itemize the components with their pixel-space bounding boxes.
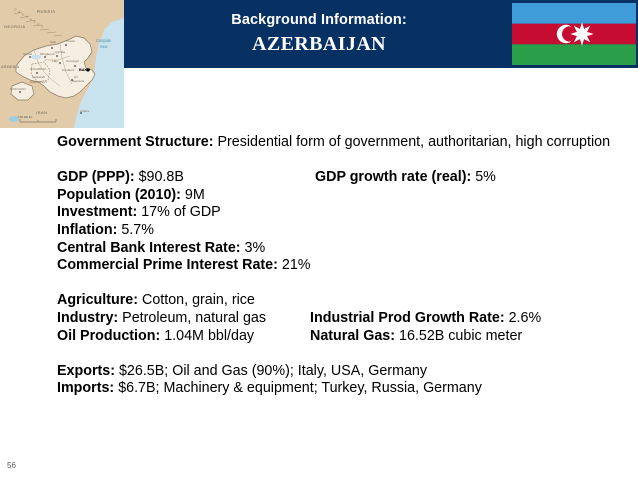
svg-text:Şäki: Şäki <box>50 40 56 44</box>
fact-value: Petroleum, natural gas <box>122 310 266 326</box>
fact-value: 17% of GDP <box>141 204 220 220</box>
fact-row-industry: Industry: Petroleum, natural gas Industr… <box>57 310 632 328</box>
svg-text:BAKU: BAKU <box>79 68 90 72</box>
eight-pointed-star-icon <box>570 22 593 45</box>
fact-row-investment: Investment: 17% of GDP <box>57 204 632 222</box>
fact-row-commercial-prime-interest-rate: Commercial Prime Interest Rate: 21% <box>57 257 632 275</box>
svg-text:Gäncä: Gäncä <box>23 52 32 56</box>
fact-row-industrial-prod-growth-rate: Industrial Prod Growth Rate: 2.6% <box>310 310 541 328</box>
fact-row-exports: Exports: $26.5B; Oil and Gas (90%); Ital… <box>57 363 632 381</box>
fact-row-oil-production: Oil Production: 1.04M bbl/day Natural Ga… <box>57 328 632 346</box>
fact-row-natural-gas: Natural Gas: 16.52B cubic meter <box>310 328 522 346</box>
fact-row-gdp-growth-rate: GDP growth rate (real): 5% <box>315 169 496 187</box>
fact-row-spacer <box>57 152 632 170</box>
fact-label: Population (2010): <box>57 187 181 203</box>
azerbaijan-locator-map: RUSSIA GEORGIA ARMENIA IRAN Caspian Sea … <box>0 0 124 128</box>
fact-label: Natural Gas: <box>310 328 395 344</box>
svg-text:Astara: Astara <box>80 109 89 113</box>
fact-row-government-structure: Government Structure: Presidential form … <box>57 134 632 152</box>
fact-row-agriculture: Agriculture: Cotton, grain, rice <box>57 292 632 310</box>
fact-row-spacer <box>57 345 632 363</box>
fact-value: 21% <box>282 257 311 273</box>
fact-value: Presidential form of government, authori… <box>217 134 610 150</box>
svg-text:Qabala: Qabala <box>55 50 65 54</box>
svg-text:Bayramli: Bayramli <box>72 79 84 83</box>
header-subtitle: Background Information: <box>231 13 407 29</box>
fact-row-imports: Imports: $6.7B; Machinery & equipment; T… <box>57 380 632 398</box>
svg-text:NAXCIVAN: NAXCIVAN <box>10 87 26 91</box>
svg-text:RUSSIA: RUSSIA <box>37 9 56 14</box>
svg-text:Sea: Sea <box>100 44 108 49</box>
svg-text:0 50 100 km: 0 50 100 km <box>18 115 32 119</box>
svg-text:Mingäçevir: Mingäçevir <box>40 52 55 56</box>
fact-label: Exports: <box>57 363 115 379</box>
fact-value: 5.7% <box>121 222 154 238</box>
fact-value: 1.04M bbl/day <box>164 328 254 344</box>
fact-row-central-bank-interest-rate: Central Bank Interest Rate: 3% <box>57 240 632 258</box>
page-title: AZERBAIJAN <box>252 33 386 55</box>
fact-row-population: Population (2010): 9M <box>57 187 632 205</box>
fact-label: Investment: <box>57 204 137 220</box>
fact-value: $6.7B; Machinery & equipment; Turkey, Ru… <box>118 380 482 396</box>
fact-label: Government Structure: <box>57 134 214 150</box>
fact-value: $90.8B <box>139 169 184 185</box>
svg-text:IRAN: IRAN <box>36 110 48 115</box>
fact-label: Oil Production: <box>57 328 160 344</box>
header-title-block: Background Information: AZERBAIJAN <box>124 0 514 68</box>
fact-label: Central Bank Interest Rate: <box>57 240 241 256</box>
fact-label: GDP growth rate (real): <box>315 169 471 185</box>
svg-text:NAGORNO-: NAGORNO- <box>30 67 47 71</box>
svg-text:Xankändi: Xankändi <box>32 75 45 79</box>
svg-text:Kürdämir: Kürdämir <box>62 68 75 72</box>
fact-value: 16.52B cubic meter <box>399 328 522 344</box>
svg-text:Sumqayit: Sumqayit <box>66 59 79 63</box>
fact-value: 3% <box>245 240 266 256</box>
svg-text:KARABAKH: KARABAKH <box>30 80 47 84</box>
azerbaijan-flag <box>512 3 636 65</box>
svg-text:GEORGIA: GEORGIA <box>4 24 25 29</box>
fact-label: Commercial Prime Interest Rate: <box>57 257 278 273</box>
svg-text:ARMENIA: ARMENIA <box>1 65 20 69</box>
svg-text:Caspian: Caspian <box>96 38 112 43</box>
fact-value: 2.6% <box>509 310 542 326</box>
fact-value: 9M <box>185 187 205 203</box>
fact-label: Industry: <box>57 310 118 326</box>
fact-label: GDP (PPP): <box>57 169 135 185</box>
fact-label: Imports: <box>57 380 114 396</box>
page-number: 56 <box>7 461 16 470</box>
fact-label: Industrial Prod Growth Rate: <box>310 310 505 326</box>
fact-label: Inflation: <box>57 222 117 238</box>
fact-value: $26.5B; Oil and Gas (90%); Italy, USA, G… <box>119 363 427 379</box>
fact-label: Agriculture: <box>57 292 138 308</box>
fact-row-inflation: Inflation: 5.7% <box>57 222 632 240</box>
fact-row-spacer <box>57 275 632 293</box>
fact-row-gdp-ppp: GDP (PPP): $90.8B GDP growth rate (real)… <box>57 169 632 187</box>
fact-value: 5% <box>475 169 496 185</box>
fact-value: Cotton, grain, rice <box>142 292 255 308</box>
svg-text:Yevlax: Yevlax <box>66 39 75 43</box>
svg-text:Läki: Läki <box>52 59 58 63</box>
fact-sheet: Government Structure: Presidential form … <box>57 134 632 398</box>
